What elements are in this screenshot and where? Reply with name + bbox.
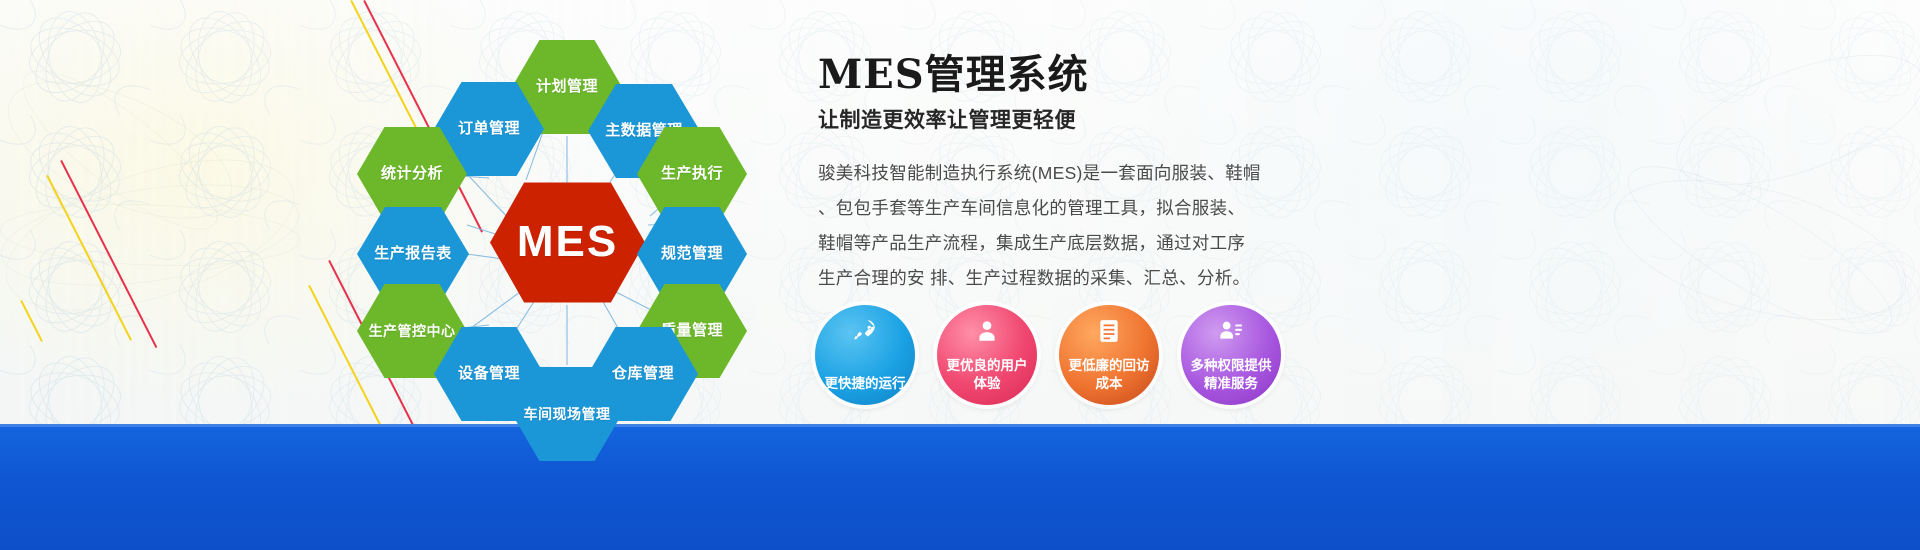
user-icon [970,316,1004,346]
hex-node-label: 设备管理 [454,365,524,382]
feature-circle-4[interactable]: 多种权限提供精准服务 [1181,305,1281,405]
hex-node-label: 统计分析 [377,165,447,182]
hex-node-label: 生产管控中心 [365,323,460,339]
document-icon [1092,316,1126,346]
page-subtitle: 让制造更效率让管理更轻便 [818,104,1518,134]
hex-node-label: 生产执行 [657,165,727,182]
description-line: 骏美科技智能制造执行系统(MES)是一套面向服装、鞋帽 [818,156,1266,191]
banner-text-column: MES管理系统 让制造更效率让管理更轻便 骏美科技智能制造执行系统(MES)是一… [818,52,1518,296]
mes-hexagon-diagram: MES 计划管理订单管理主数据管理统计分析生产执行生产报告表规范管理生产管控中心… [330,20,800,440]
feature-circle-label: 更优良的用户体验 [941,357,1033,393]
description-line: 鞋帽等产品生产流程，集成生产底层数据，通过对工序 [818,226,1266,261]
feature-circle-1[interactable]: 更快捷的运行 [815,305,915,405]
hex-node-label: 订单管理 [454,120,524,137]
hex-node-label: 规范管理 [657,245,727,262]
hex-node-label: 车间现场管理 [520,406,615,422]
page-description: 骏美科技智能制造执行系统(MES)是一套面向服装、鞋帽、包包手套等生产车间信息化… [818,156,1266,296]
feature-circle-label: 多种权限提供精准服务 [1185,357,1277,393]
feature-circle-label: 更低廉的回访成本 [1063,357,1155,393]
hex-node-label: 生产报告表 [370,245,456,262]
background-blue-band [0,424,1920,550]
feature-circle-2[interactable]: 更优良的用户体验 [937,305,1037,405]
hex-node-label: 仓库管理 [608,365,678,382]
hex-node-label: 计划管理 [532,78,602,95]
description-line: 、包包手套等生产车间信息化的管理工具，拟合服装、 [818,191,1266,226]
user-card-icon [1214,316,1248,346]
feature-circle-label: 更快捷的运行 [819,375,911,393]
feature-circle-3[interactable]: 更低廉的回访成本 [1059,305,1159,405]
mes-banner: MES 计划管理订单管理主数据管理统计分析生产执行生产报告表规范管理生产管控中心… [0,0,1920,550]
page-title: MES管理系统 [818,52,1518,98]
description-line: 生产合理的安 排、生产过程数据的采集、汇总、分析。 [818,261,1266,296]
feature-circle-list: 更快捷的运行更优良的用户体验更低廉的回访成本多种权限提供精准服务 [815,305,1281,405]
hex-center-label: MES [513,217,622,268]
rocket-icon [848,316,882,346]
